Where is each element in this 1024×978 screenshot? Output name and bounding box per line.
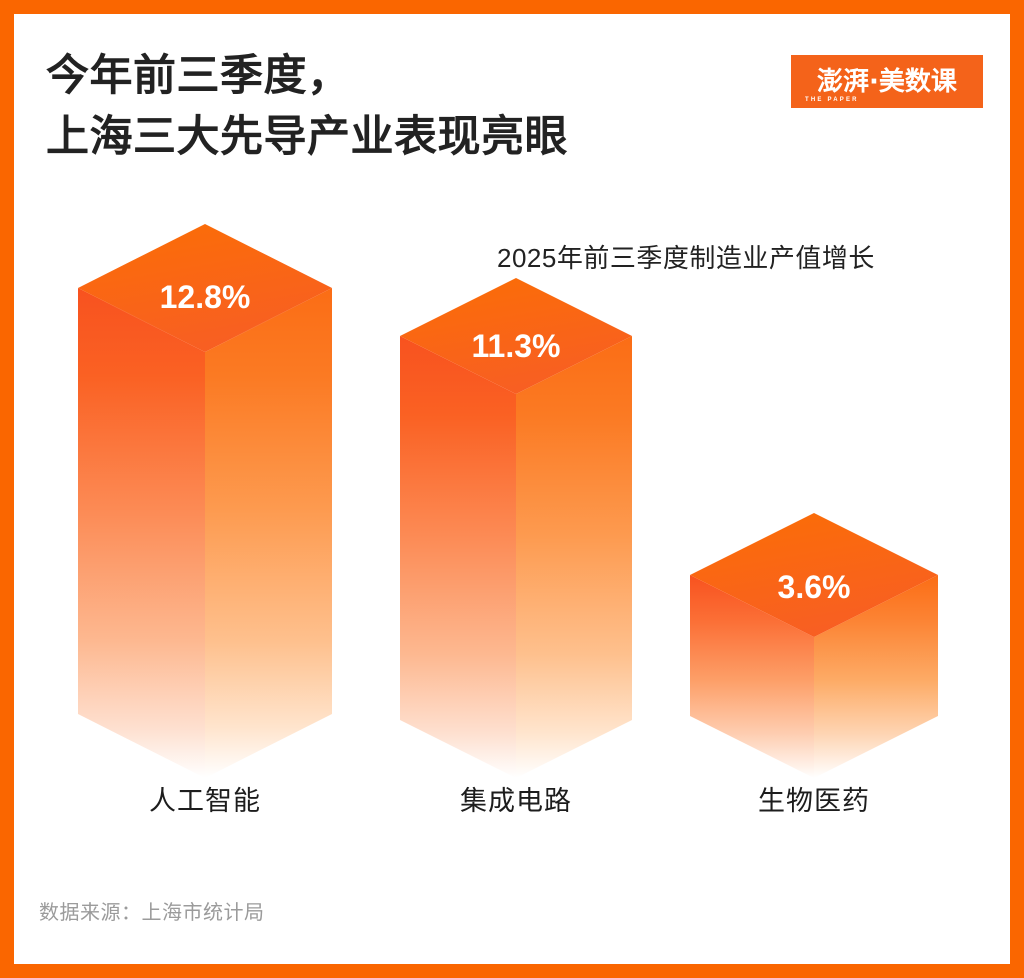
bar-right-face — [205, 288, 332, 778]
frame-border-right — [1010, 0, 1024, 978]
frame-border-left — [0, 0, 14, 978]
frame-border-bottom — [0, 964, 1024, 978]
frame-border-top — [0, 0, 1024, 14]
category-label-0: 人工智能 — [105, 779, 305, 818]
bar-item-1: 11.3% — [400, 278, 632, 778]
bar-item-2: 3.6% — [690, 513, 938, 778]
bar-right-face — [516, 336, 632, 778]
infographic-page: 今年前三季度， 上海三大先导产业表现亮眼 澎湃·美数课 THE PAPER — [0, 0, 1024, 978]
bar-value-label: 3.6% — [778, 569, 851, 605]
bar-chart: 12.8% 11.3% 3.6% 2025年前三季度制造业产值增长 人工智能 — [0, 0, 1024, 978]
bar-value-label: 11.3% — [472, 328, 561, 364]
bar-item-0: 12.8% — [78, 224, 332, 778]
bar-left-face — [78, 288, 205, 778]
chart-subtitle: 2025年前三季度制造业产值增长 — [497, 238, 875, 275]
chart-canvas: 12.8% 11.3% 3.6% — [0, 0, 1024, 978]
bar-left-face — [400, 336, 516, 778]
category-label-2: 生物医药 — [714, 779, 914, 818]
bar-value-label: 12.8% — [160, 279, 251, 315]
data-source-note: 数据来源：上海市统计局 — [39, 896, 265, 925]
category-label-1: 集成电路 — [416, 779, 616, 818]
